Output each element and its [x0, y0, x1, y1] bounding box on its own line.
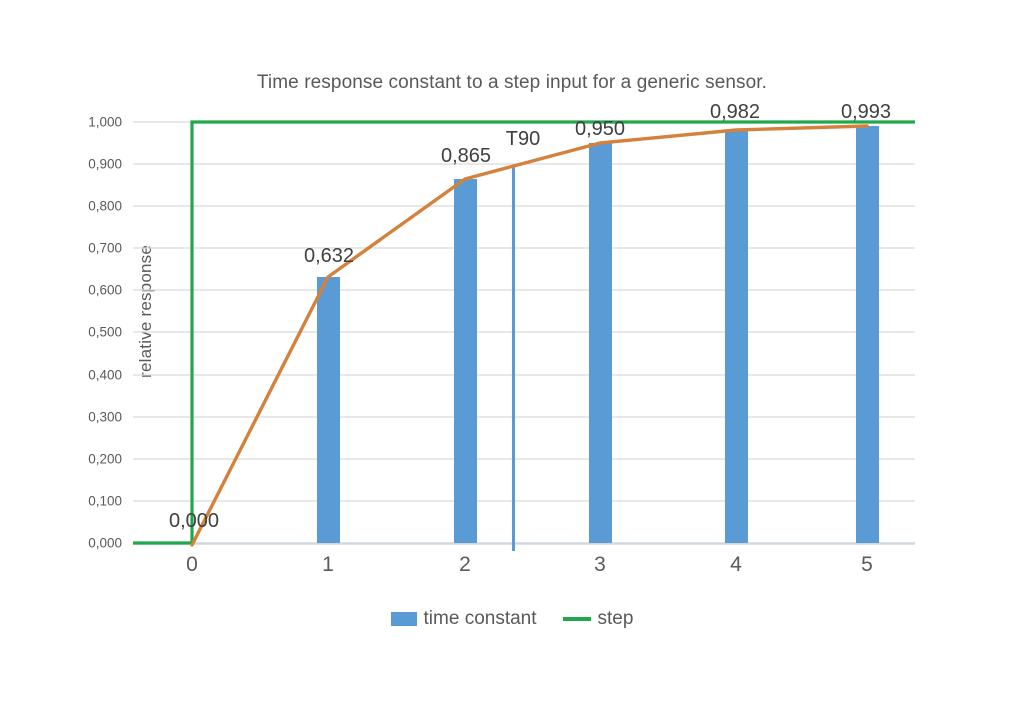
- legend-item-step: step: [563, 608, 634, 630]
- x-tick-label: 3: [594, 553, 606, 577]
- data-label-x1: 0,632: [304, 245, 354, 268]
- legend-item-time-constant: time constant: [391, 608, 537, 630]
- bar-swatch-icon: [391, 612, 417, 626]
- annotation-t90: T90: [506, 128, 540, 151]
- bar-t90-marker: [512, 165, 515, 548]
- bar-series: [317, 126, 879, 548]
- bar-x3: [589, 143, 612, 543]
- legend-label-time-constant: time constant: [424, 608, 537, 630]
- response-curve: [192, 126, 867, 545]
- chart-container: Time response constant to a step input f…: [0, 0, 1024, 724]
- gridlines: [133, 122, 915, 501]
- bar-x4: [725, 130, 748, 543]
- bar-x2: [454, 179, 477, 543]
- line-swatch-icon: [563, 617, 591, 621]
- data-label-x2: 0,865: [441, 145, 491, 168]
- data-label-x3: 0,950: [575, 118, 625, 141]
- data-label-x0: 0,000: [169, 510, 219, 533]
- x-tick-label: 4: [730, 553, 742, 577]
- data-label-x4: 0,982: [710, 101, 760, 124]
- x-tick-label: 2: [459, 553, 471, 577]
- x-tick-label: 0: [186, 553, 198, 577]
- legend-label-step: step: [598, 608, 634, 630]
- bar-x1: [317, 277, 340, 543]
- x-tick-label: 1: [322, 553, 334, 577]
- bar-x5: [856, 126, 879, 543]
- x-tick-label: 5: [861, 553, 873, 577]
- data-label-x5: 0,993: [841, 101, 891, 124]
- chart-legend: time constant step: [0, 608, 1024, 630]
